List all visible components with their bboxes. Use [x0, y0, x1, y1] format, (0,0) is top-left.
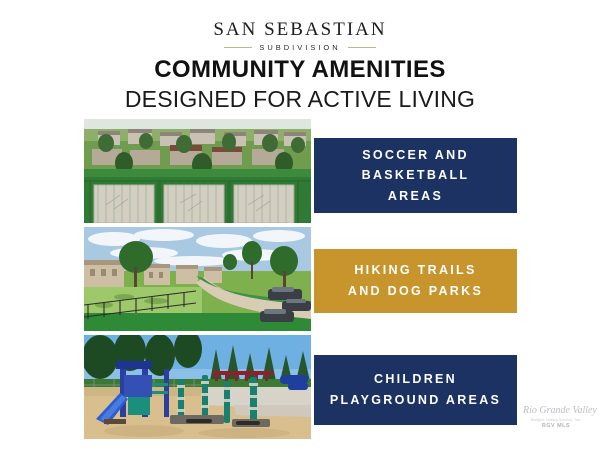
amenity-image-playground	[84, 335, 311, 439]
mls-watermark: Rio Grande Valley Multiple Listing Servi…	[523, 406, 589, 429]
amenity-label-panel-children-playground: CHILDREN PLAYGROUND AREAS	[314, 355, 517, 425]
logo-subtitle: SUBDIVISION	[259, 44, 340, 52]
amenity-row-soccer-basketball: SOCCER AND BASKETBALL AREAS	[84, 119, 517, 223]
page-title: COMMUNITY AMENITIES DESIGNED FOR ACTIVE …	[0, 56, 600, 114]
amenity-label-text: CHILDREN PLAYGROUND AREAS	[330, 369, 501, 410]
logo-subtitle-row: SUBDIVISION	[0, 44, 600, 52]
amenity-label-panel-soccer-basketball: SOCCER AND BASKETBALL AREAS	[314, 138, 517, 213]
slide-canvas: SAN SEBASTIAN SUBDIVISION COMMUNITY AMEN…	[0, 0, 600, 450]
watermark-mls-label: RGV MLS	[523, 423, 589, 429]
brand-logo: SAN SEBASTIAN SUBDIVISION	[0, 20, 600, 52]
watermark-script-text: Rio Grande Valley	[523, 406, 589, 417]
logo-rule-right	[348, 47, 376, 48]
logo-name: SAN SEBASTIAN	[0, 20, 600, 39]
amenity-image-sports-courts	[84, 119, 311, 223]
amenity-label-text: SOCCER AND BASKETBALL AREAS	[362, 145, 470, 207]
amenity-label-panel-hiking-dog-parks: HIKING TRAILS AND DOG PARKS	[314, 249, 517, 313]
amenity-image-park-trail	[84, 227, 311, 331]
amenity-row-hiking-dog-parks: HIKING TRAILS AND DOG PARKS	[84, 227, 517, 331]
amenity-label-text: HIKING TRAILS AND DOG PARKS	[348, 260, 483, 301]
headline-secondary: DESIGNED FOR ACTIVE LIVING	[0, 86, 600, 114]
amenity-row-children-playground: CHILDREN PLAYGROUND AREAS	[84, 335, 517, 439]
headline-primary: COMMUNITY AMENITIES	[0, 56, 600, 84]
logo-rule-left	[224, 47, 252, 48]
watermark-tagline: Multiple Listing Service, Inc.	[523, 418, 589, 422]
